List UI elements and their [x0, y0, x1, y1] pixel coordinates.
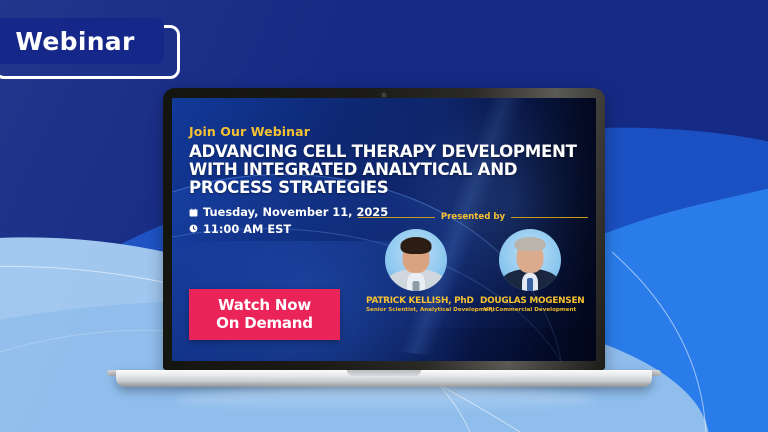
- page-title: ADVANCING CELL THERAPY DEVELOPMENT WITH …: [189, 143, 489, 196]
- laptop-mockup: Join Our Webinar ADVANCING CELL THERAPY …: [163, 88, 605, 387]
- presented-by-label: Presented by: [441, 212, 505, 222]
- screen-content: Join Our Webinar ADVANCING CELL THERAPY …: [172, 98, 596, 361]
- laptop-reflection: [176, 387, 596, 413]
- headline-line-1: ADVANCING CELL THERAPY DEVELOPMENT: [189, 143, 489, 161]
- event-time: 11:00 AM EST: [203, 222, 291, 236]
- webinar-badge-label: Webinar: [15, 27, 134, 56]
- speakers-row: PATRICK KELLISH, PhD Senior Scientist, A…: [358, 229, 588, 313]
- avatar: [385, 229, 447, 291]
- cta-line-2: On Demand: [216, 315, 313, 333]
- webinar-badge-box: Webinar: [0, 18, 164, 64]
- laptop-base-wrap: [116, 370, 652, 387]
- calendar-icon: [189, 208, 198, 217]
- clock-icon: [189, 224, 198, 233]
- promo-banner: Webinar Join Our Webinar ADVANCING CELL …: [0, 0, 768, 432]
- divider-right: [511, 217, 588, 218]
- laptop-base: [116, 370, 652, 387]
- speaker-name: DOUGLAS MOGENSEN: [480, 296, 580, 306]
- speaker-role: VP, Commercial Development: [480, 307, 580, 313]
- cta-line-1: Watch Now: [218, 297, 311, 315]
- speaker-card: DOUGLAS MOGENSEN VP, Commercial Developm…: [480, 229, 580, 313]
- speaker-name: PATRICK KELLISH, PhD: [366, 296, 466, 306]
- speaker-card: PATRICK KELLISH, PhD Senior Scientist, A…: [366, 229, 466, 313]
- speaker-role: Senior Scientist, Analytical Development: [366, 307, 466, 313]
- divider-left: [358, 217, 435, 218]
- webcam-icon: [382, 93, 386, 97]
- webinar-badge: Webinar: [0, 18, 164, 64]
- eyebrow-text: Join Our Webinar: [189, 124, 596, 139]
- avatar: [499, 229, 561, 291]
- watch-now-button[interactable]: Watch Now On Demand: [189, 289, 340, 340]
- presenters-section: Presented by: [358, 212, 588, 313]
- laptop-screen: Join Our Webinar ADVANCING CELL THERAPY …: [172, 98, 596, 361]
- presented-by-header: Presented by: [358, 212, 588, 222]
- headline-line-3: PROCESS STRATEGIES: [189, 179, 489, 197]
- headline-line-2: WITH INTEGRATED ANALYTICAL AND: [189, 161, 489, 179]
- laptop-lid: Join Our Webinar ADVANCING CELL THERAPY …: [163, 88, 605, 370]
